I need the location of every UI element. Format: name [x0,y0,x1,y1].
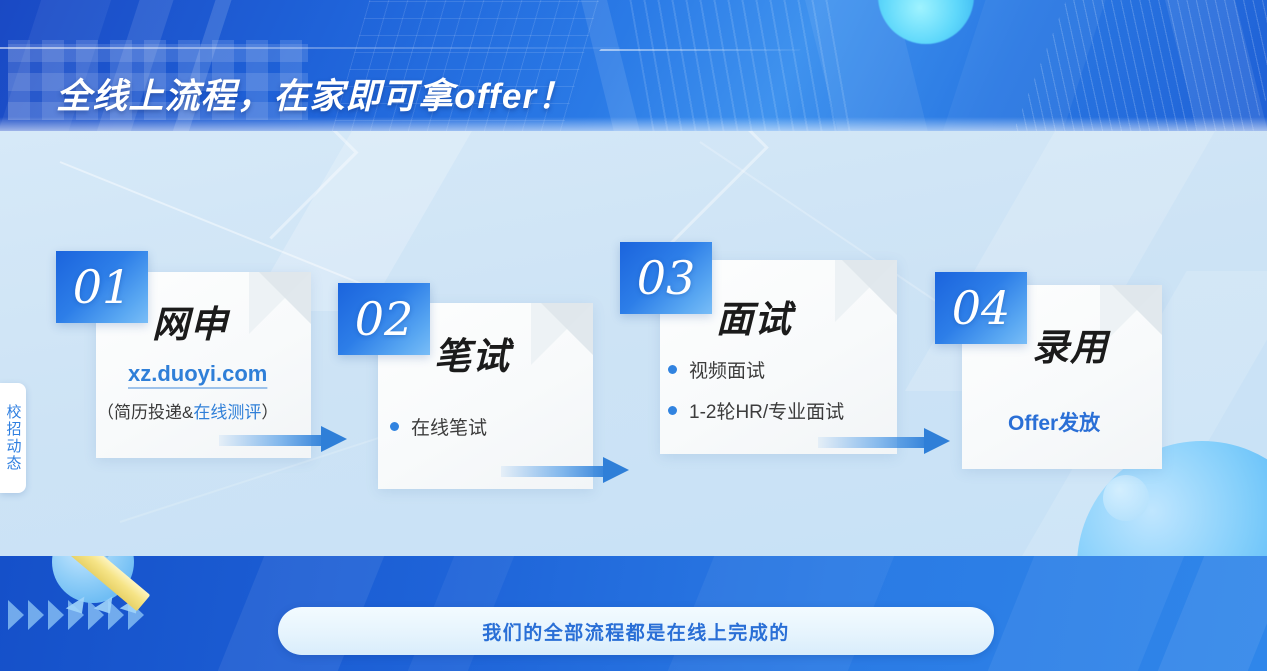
step-01-note: （简历投递&在线测评） [97,398,278,423]
step-02-bullet-0: 在线笔试 [411,413,487,440]
step-03-number: 03 [637,255,696,301]
list-item: 在线笔试 [390,413,487,440]
arrow-01-to-02 [219,426,347,452]
step-03-bullet-list: 视频面试 1-2轮HR/专业面试 [668,356,844,438]
bullet-dot-icon [668,365,677,374]
list-item: 视频面试 [668,356,844,383]
footer-message-text: 我们的全部流程都是在线上完成的 [482,618,790,645]
step-04-offer-text: Offer发放 [1008,407,1100,437]
step-02-title: 笔试 [434,326,510,380]
header-banner: 全线上流程，在家即可拿offer！ [0,0,1267,131]
step-01-number: 01 [73,264,132,310]
step-03-title: 面试 [716,289,792,343]
step-01-number-badge: 01 [56,251,148,323]
step-03-bullet-1: 1-2轮HR/专业面试 [689,397,844,424]
step-02-number: 02 [355,296,414,342]
application-site-link[interactable]: xz.duoyi.com [128,361,267,387]
step-04-number: 04 [952,285,1011,331]
banner-sphere-icon [878,0,974,44]
banner-bottom-fade [0,117,1267,131]
slide-root: 全线上流程，在家即可拿offer！ 校招动态 0 [0,0,1267,671]
arrow-02-to-03 [501,457,629,483]
list-item: 1-2轮HR/专业面试 [668,397,844,424]
page-title: 全线上流程，在家即可拿offer！ [56,68,574,119]
footer-banner: 我们的全部流程都是在线上完成的 [0,556,1267,671]
step-03-bullet-0: 视频面试 [689,356,765,383]
decorative-sphere-small [1103,475,1149,521]
sidebar-tab-label: 校招动态 [6,404,21,472]
step-04-number-badge: 04 [935,272,1027,344]
step-01-note-highlight: 在线测评 [193,403,261,422]
step-02-bullet-list: 在线笔试 [390,413,487,454]
step-02-number-badge: 02 [338,283,430,355]
step-01-title: 网申 [152,294,228,348]
step-01-note-suffix: ） [261,403,278,422]
bullet-dot-icon [390,422,399,431]
pen-mascot-icon [52,556,158,627]
step-03-number-badge: 03 [620,242,712,314]
step-01-note-prefix: （简历投递& [97,403,193,422]
footer-message-pill: 我们的全部流程都是在线上完成的 [278,607,994,655]
sidebar-tab-campus-news[interactable]: 校招动态 [0,383,26,493]
arrow-03-to-04 [818,428,950,454]
bullet-dot-icon [668,406,677,415]
step-04-title: 录用 [1032,317,1108,371]
